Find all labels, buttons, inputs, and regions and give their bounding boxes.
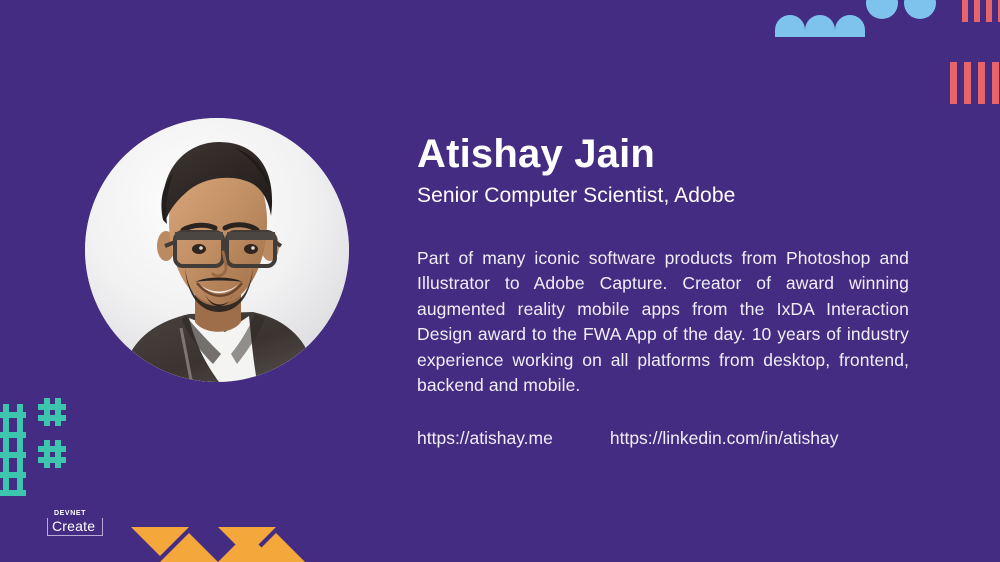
devnet-create-logo: DEVNET Create: [47, 508, 105, 538]
circle-dot-icon: [866, 0, 898, 19]
bar-icon: [964, 62, 971, 104]
speaker-info: Atishay Jain Senior Computer Scientist, …: [417, 130, 909, 450]
hash-stroke-icon: [38, 415, 66, 421]
arch-icon: [775, 15, 805, 37]
bar-icon: [962, 0, 968, 22]
blue-circles-decoration: [866, 0, 938, 19]
hash-stroke-icon: [55, 440, 61, 468]
logo-devnet-label: DEVNET: [52, 509, 88, 518]
speaker-bio: Part of many iconic software products fr…: [417, 246, 909, 398]
arch-icon: [805, 15, 835, 37]
hash-stroke-icon: [44, 440, 50, 468]
speaker-links: https://atishay.me https://linkedin.com/…: [417, 426, 909, 450]
hash-stroke-icon: [44, 398, 50, 426]
speaker-role: Senior Computer Scientist, Adobe: [417, 182, 909, 210]
link-personal-site[interactable]: https://atishay.me: [417, 426, 553, 450]
ladder-rung-icon: [0, 490, 26, 496]
bar-icon: [992, 62, 999, 104]
teal-ladder-decoration: [0, 404, 26, 496]
arch-icon: [835, 15, 865, 37]
teal-hash-decoration: [38, 440, 66, 468]
bar-icon: [986, 0, 992, 22]
ladder-rung-icon: [0, 472, 26, 478]
hash-stroke-icon: [38, 446, 66, 452]
ladder-rung-icon: [0, 412, 26, 418]
blue-arches-decoration: [775, 14, 865, 37]
bar-icon: [950, 62, 957, 104]
link-linkedin[interactable]: https://linkedin.com/in/atishay: [610, 426, 839, 450]
speaker-slide: DEVNET Create: [0, 0, 1000, 562]
hash-stroke-icon: [38, 457, 66, 463]
triangle-up-icon: [160, 533, 218, 562]
circle-dot-icon: [904, 0, 936, 19]
speaker-name: Atishay Jain: [417, 130, 909, 178]
bar-icon: [978, 62, 985, 104]
ladder-rung-icon: [0, 432, 26, 438]
hash-stroke-icon: [55, 398, 61, 426]
hash-stroke-icon: [38, 404, 66, 410]
logo-create-label: Create: [52, 518, 95, 535]
ladder-rung-icon: [0, 452, 26, 458]
teal-hash-decoration: [38, 398, 66, 426]
speaker-photo: [85, 118, 349, 382]
triangle-up-icon: [247, 533, 305, 562]
bar-icon: [974, 0, 980, 22]
red-bars-middle-decoration: [950, 62, 999, 104]
red-bars-top-decoration: [962, 0, 1000, 22]
